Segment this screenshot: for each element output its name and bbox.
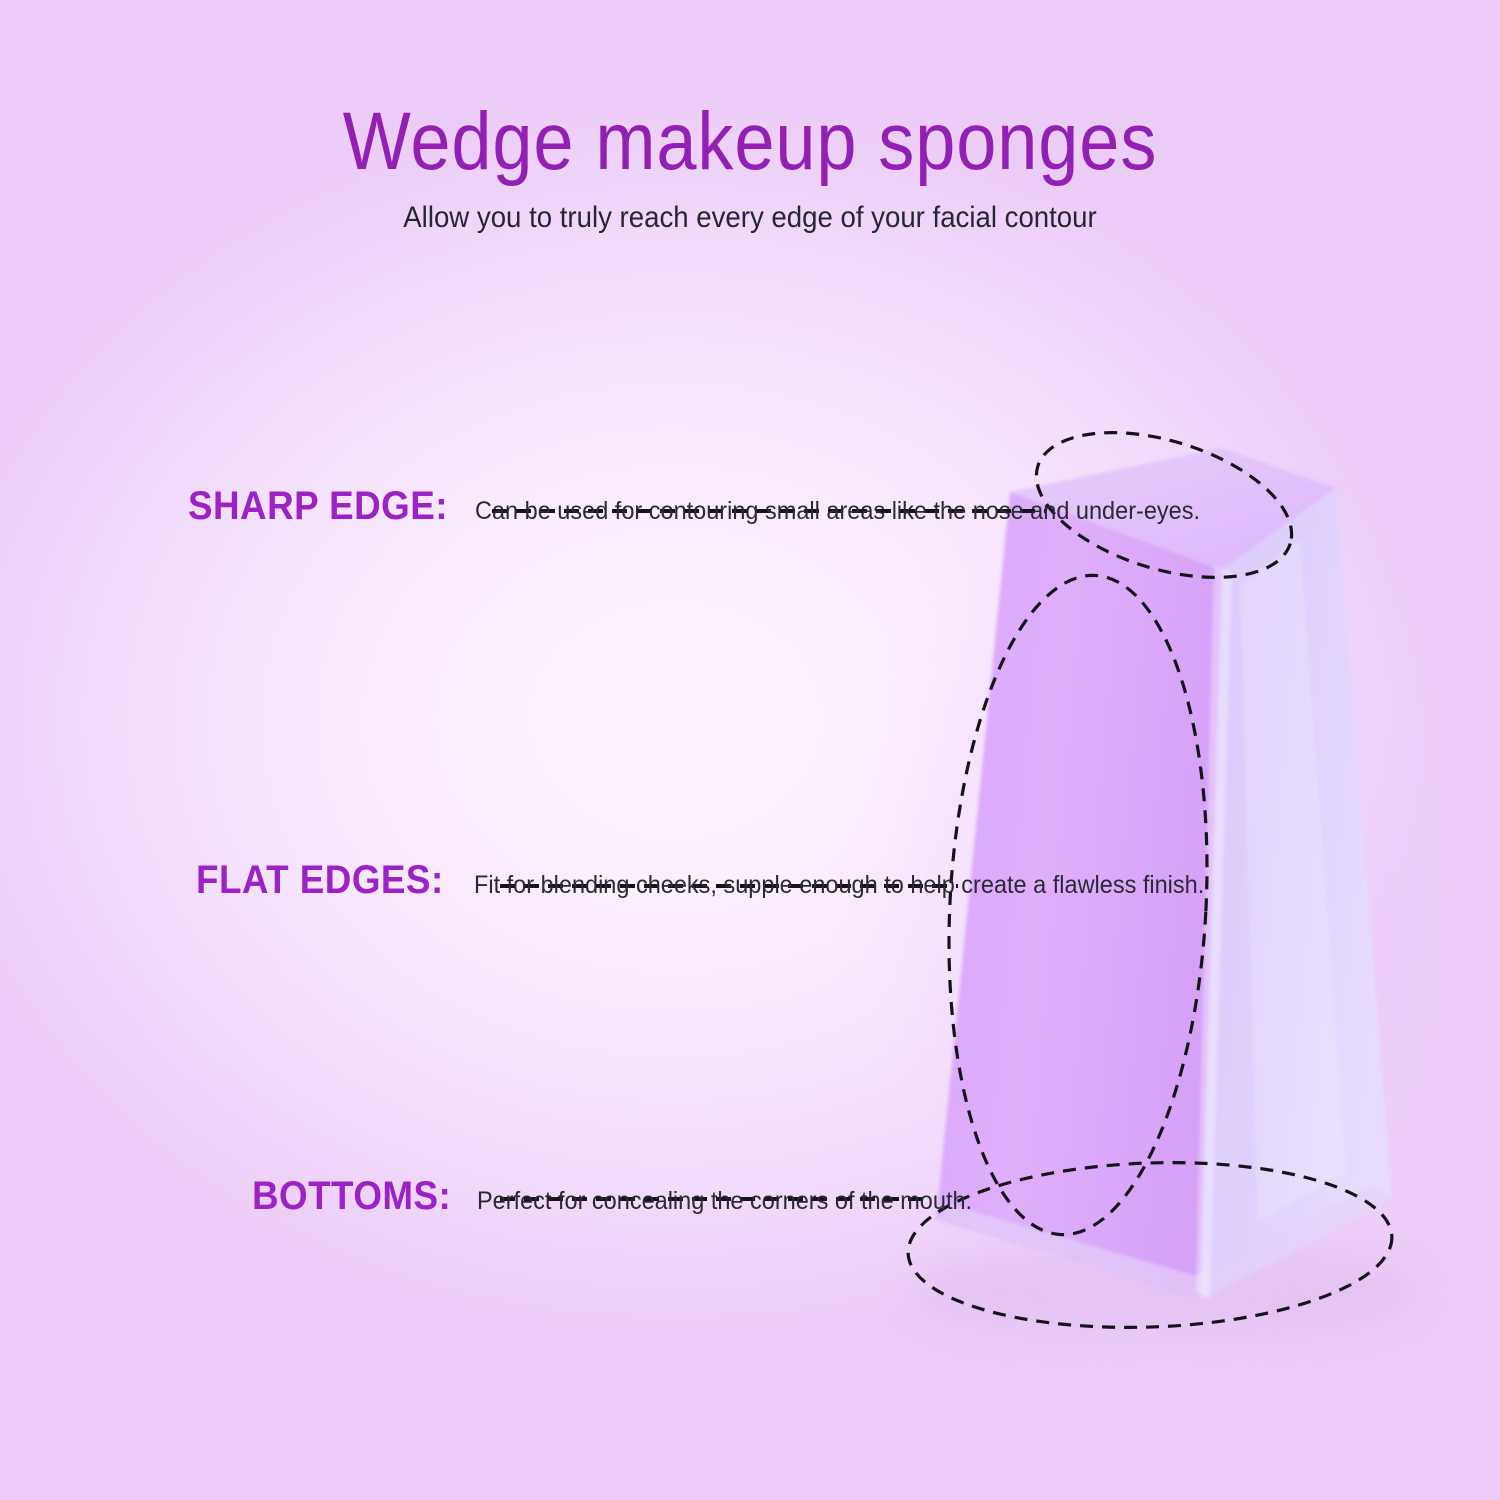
callout-label-bottoms: BOTTOMS: [252,1174,451,1218]
annotation-ellipse-flat-edges [933,569,1223,1241]
page-subtitle: Allow you to truly reach every edge of y… [60,188,1440,236]
callout-description-sharp-edge: Can be used for contouring small areas l… [475,495,1200,527]
callout-description-bottoms: Perfect for concealing the corners of th… [477,1185,972,1217]
callout-flat-edges: FLAT EDGES: Fit for blending cheeks, sup… [196,858,1251,902]
callout-sharp-edge: SHARP EDGE: Can be used for contouring s… [188,484,1246,528]
sponge-base-edge [936,1186,1392,1300]
header: Wedge makeup sponges Allow you to truly … [0,0,1500,236]
infographic-canvas: Wedge makeup sponges Allow you to truly … [0,0,1500,1500]
sponge-corner-highlight [1196,566,1232,1298]
callout-label-flat-edges: FLAT EDGES: [196,858,444,902]
callout-bottoms: BOTTOMS: Perfect for concealing the corn… [252,1174,1004,1218]
callout-label-sharp-edge: SHARP EDGE: [188,484,448,528]
page-title: Wedge makeup sponges [90,0,1410,188]
sponge-side-highlight [1240,540,1346,1222]
callout-description-flat-edges: Fit for blending cheeks, supple enough t… [474,869,1204,901]
product-shadow [915,1248,1415,1336]
